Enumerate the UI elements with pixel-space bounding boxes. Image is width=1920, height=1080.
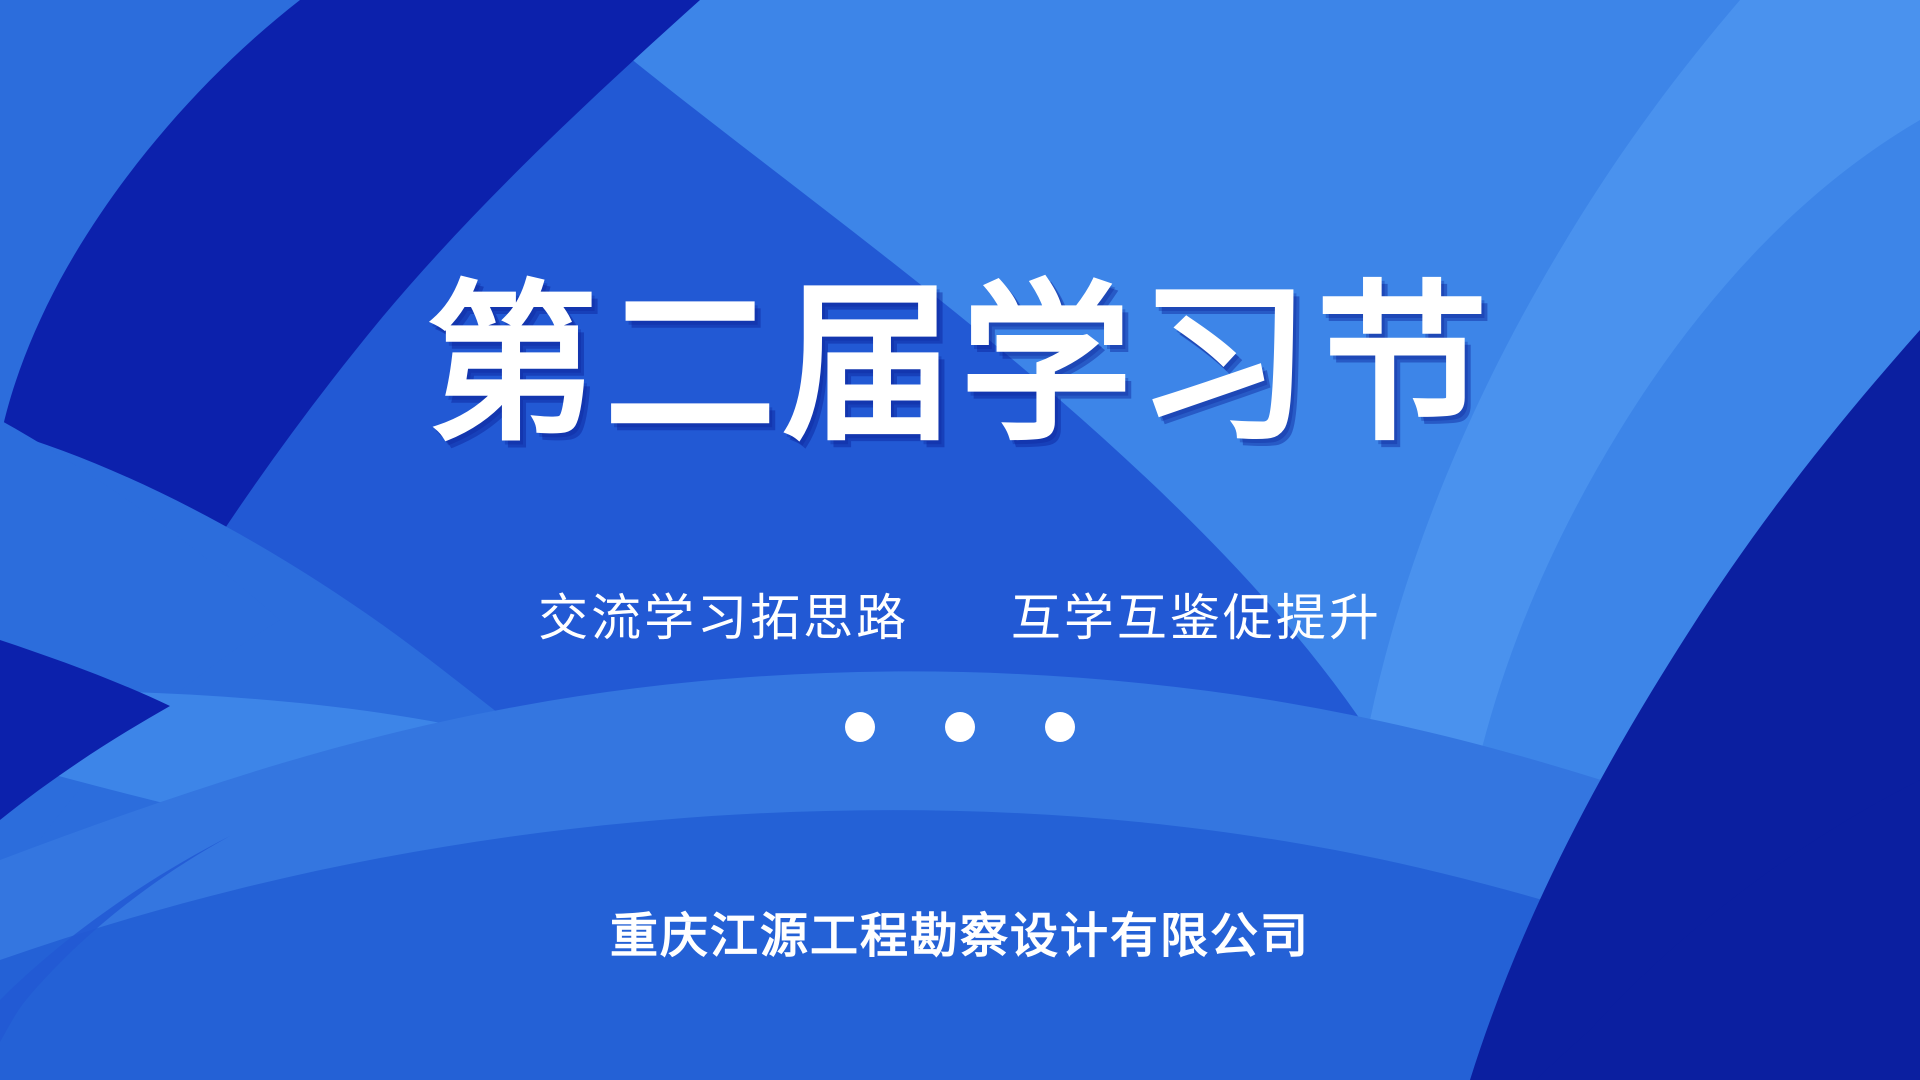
dot-decoration <box>0 712 1920 742</box>
poster-canvas: 第二届学习节 交流学习拓思路 互学互鉴促提升 重庆江源工程勘察设计有限公司 <box>0 0 1920 1080</box>
organization-name: 重庆江源工程勘察设计有限公司 <box>610 908 1310 966</box>
decoration-dot-1 <box>845 712 875 742</box>
organization-block: 重庆江源工程勘察设计有限公司 <box>0 908 1920 966</box>
decoration-dot-2 <box>945 712 975 742</box>
poster-content: 第二届学习节 交流学习拓思路 互学互鉴促提升 重庆江源工程勘察设计有限公司 <box>0 0 1920 1080</box>
subtitle-phrase-2: 互学互鉴促提升 <box>1011 590 1382 646</box>
title-block: 第二届学习节 <box>0 278 1920 453</box>
subtitle-block: 交流学习拓思路 互学互鉴促提升 <box>0 588 1920 648</box>
subtitle-phrase-1: 交流学习拓思路 <box>538 590 909 646</box>
subtitle-line: 交流学习拓思路 互学互鉴促提升 <box>538 588 1382 648</box>
page-title: 第二届学习节 <box>426 278 1494 453</box>
decoration-dot-3 <box>1045 712 1075 742</box>
